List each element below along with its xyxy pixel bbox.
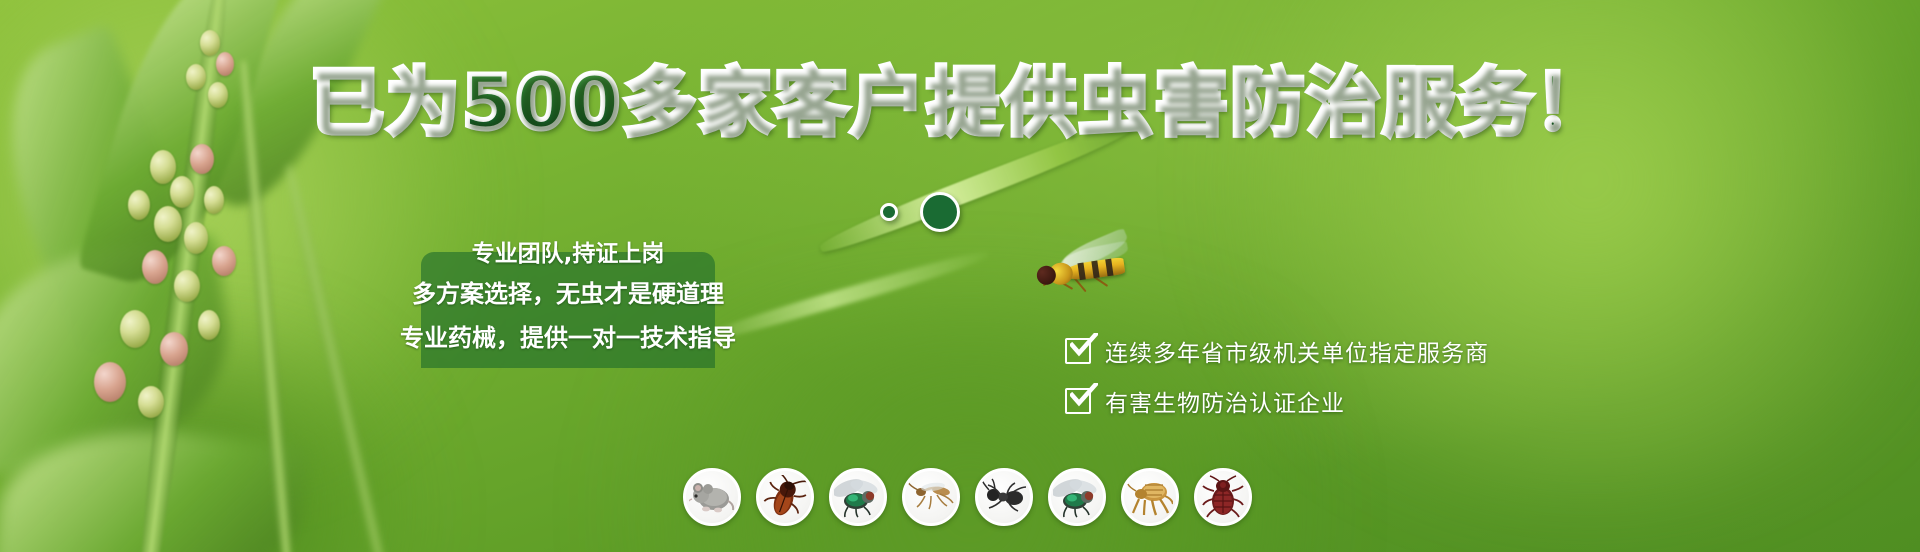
pest-type-icon-strip (683, 468, 1252, 526)
feature-line-2: 多方案选择，无虫才是硬道理 (346, 274, 790, 309)
fly-icon[interactable] (829, 468, 887, 526)
ant-icon[interactable] (975, 468, 1033, 526)
bedbug-icon[interactable] (1194, 468, 1252, 526)
checkbox-checked-icon (1065, 388, 1091, 414)
checklist-item: 有害生物防治认证企业 (1065, 376, 1489, 426)
flea-icon[interactable] (1121, 468, 1179, 526)
large-dot (920, 192, 960, 232)
pest-control-hero-banner: 已为500多家客户提供虫害防治服务！ 专业团队,持证上岗 多方案选择，无虫才是硬… (0, 0, 1920, 552)
checklist-item-label: 连续多年省市级机关单位指定服务商 (1105, 334, 1489, 368)
checkbox-checked-icon (1065, 338, 1091, 364)
blowfly-icon[interactable] (1048, 468, 1106, 526)
feature-line-1: 专业团队,持证上岗 (411, 234, 725, 268)
decorative-dots (880, 192, 960, 232)
checklist-item: 连续多年省市级机关单位指定服务商 (1065, 326, 1489, 376)
mosquito-icon[interactable] (902, 468, 960, 526)
feature-highlight-card: 专业团队,持证上岗 多方案选择，无虫才是硬道理 专业药械，提供一对一技术指导 (421, 252, 715, 368)
credentials-checklist: 连续多年省市级机关单位指定服务商 有害生物防治认证企业 (1065, 326, 1489, 426)
checklist-item-label: 有害生物防治认证企业 (1105, 384, 1345, 418)
banner-headline-text: 已为500多家客户提供虫害防治服务！ (310, 60, 1610, 146)
hoverfly-illustration (1032, 237, 1159, 309)
mouse-icon[interactable] (683, 468, 741, 526)
cockroach-icon[interactable] (756, 468, 814, 526)
banner-headline: 已为500多家客户提供虫害防治服务！ (0, 66, 1920, 140)
small-dot (880, 203, 898, 221)
feature-line-3: 专业药械，提供一对一技术指导 (336, 318, 800, 353)
